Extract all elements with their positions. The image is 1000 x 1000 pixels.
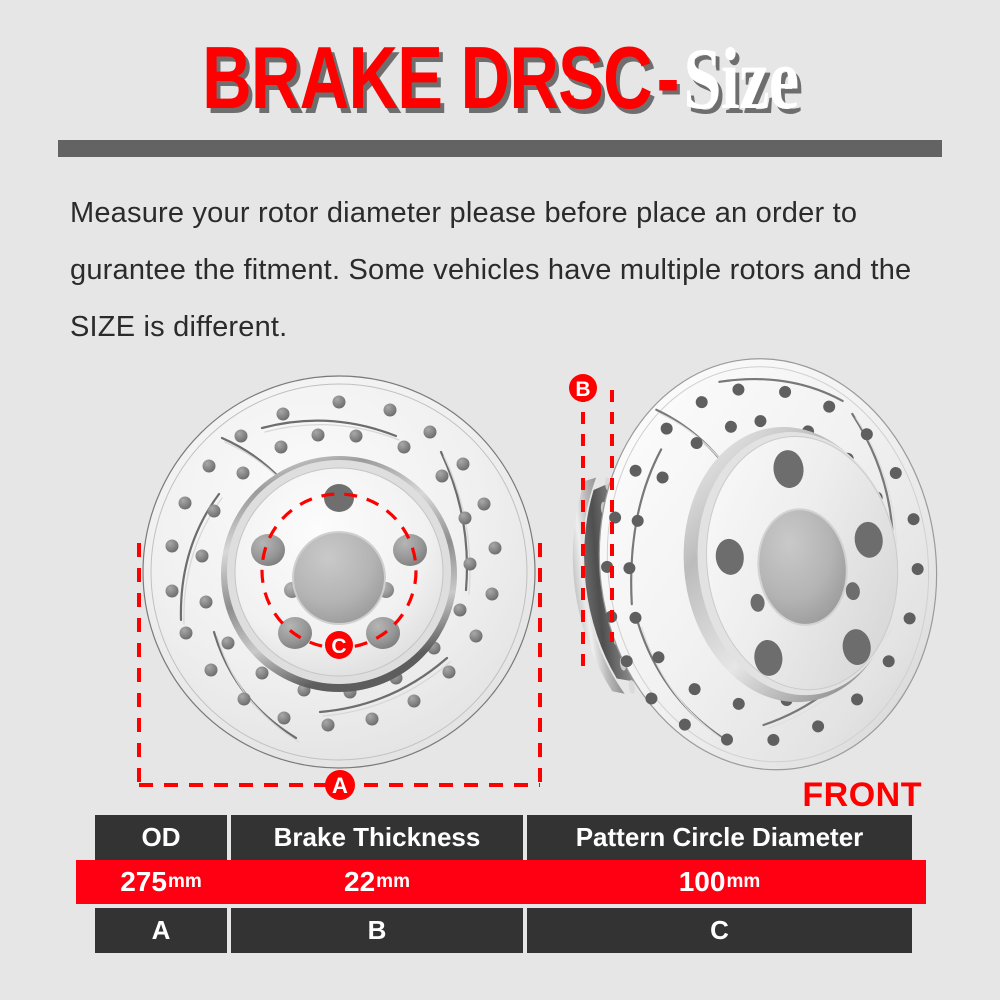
page-title: BRAKE DRSC-Size <box>0 30 1000 130</box>
table-label-b: B <box>231 908 523 953</box>
marker-b: B <box>569 374 597 402</box>
left-rotor-face-view: C A <box>139 376 540 800</box>
instruction-paragraph: Measure your rotor diameter please befor… <box>70 185 930 356</box>
table-value-pcd: 100mm <box>527 860 912 904</box>
value-thickness-unit: mm <box>376 871 410 893</box>
table-header-brake-thickness: Brake Thickness <box>231 815 523 860</box>
value-od-unit: mm <box>168 871 202 893</box>
marker-a: A <box>325 770 355 800</box>
title-dash: - <box>652 28 683 127</box>
specs-table: OD Brake Thickness Pattern Circle Diamet… <box>0 815 1000 955</box>
marker-c-label: C <box>331 635 346 658</box>
value-thickness-number: 22 <box>344 866 375 898</box>
table-label-c: C <box>527 908 912 953</box>
table-value-od: 275mm <box>95 860 227 904</box>
table-value-thickness: 22mm <box>231 860 523 904</box>
title-size-text: Size <box>683 31 798 128</box>
rotor-diagram: C A <box>0 340 1000 815</box>
marker-c: C <box>325 631 353 659</box>
title-brand-text: BRAKE DRSC <box>202 28 652 127</box>
marker-a-label: A <box>332 773 348 798</box>
front-label: FRONT <box>802 776 922 815</box>
table-label-a: A <box>95 908 227 953</box>
value-od-number: 275 <box>120 866 167 898</box>
brake-rotor-size-infographic: BRAKE DRSC-Size Measure your rotor diame… <box>0 0 1000 1000</box>
value-pcd-number: 100 <box>679 866 726 898</box>
table-header-pattern-circle-diameter: Pattern Circle Diameter <box>527 815 912 860</box>
table-value-row: 275mm 22mm 100mm <box>95 860 912 904</box>
table-header-od: OD <box>95 815 227 860</box>
table-header-row: OD Brake Thickness Pattern Circle Diamet… <box>95 815 912 860</box>
marker-b-label: B <box>575 378 590 401</box>
header-divider-bar <box>58 140 942 157</box>
value-pcd-unit: mm <box>726 871 760 893</box>
table-label-row: A B C <box>95 908 912 953</box>
